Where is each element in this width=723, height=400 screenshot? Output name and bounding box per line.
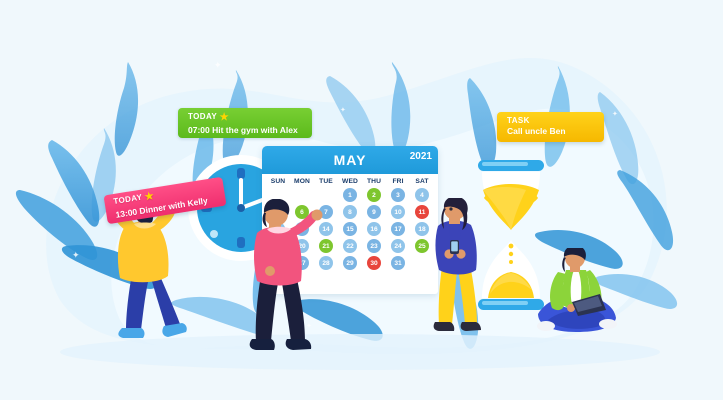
person-woman-blue-top (424, 198, 496, 340)
calendar-cell[interactable]: 16 (362, 221, 386, 237)
calendar-cell[interactable]: 31 (386, 255, 410, 271)
calendar-day-30[interactable]: 30 (367, 256, 381, 270)
calendar-day-9[interactable]: 9 (367, 205, 381, 219)
calendar-cell[interactable]: 17 (386, 221, 410, 237)
sparkle-icon: ✦ (340, 106, 346, 114)
calendar-cell[interactable]: 22 (338, 238, 362, 254)
person-man-green-jacket (528, 248, 628, 342)
calendar-cell[interactable]: 10 (386, 204, 410, 220)
calendar-weekday-thu: THU (362, 178, 386, 185)
calendar-day-17[interactable]: 17 (391, 222, 405, 236)
sparkle-icon: ✦ (214, 60, 222, 71)
calendar-weekday-wed: WED (338, 178, 362, 185)
label-green-line1: TODAY ★ (188, 113, 312, 124)
calendar-cell[interactable]: 1 (338, 187, 362, 203)
calendar-day-15[interactable]: 15 (343, 222, 357, 236)
calendar-day-16[interactable]: 16 (367, 222, 381, 236)
label-yellow-line2: Call uncle Ben (507, 127, 604, 136)
sparkle-icon: ✦ (72, 250, 80, 261)
star-icon: ★ (220, 112, 229, 123)
calendar-weekday-fri: FRI (386, 178, 410, 185)
calendar-cell[interactable]: 2 (362, 187, 386, 203)
calendar-year-label: 2021 (410, 151, 432, 162)
calendar-weekday-tue: TUE (314, 178, 338, 185)
calendar-day-2[interactable]: 2 (367, 188, 381, 202)
calendar-cell[interactable]: 9 (362, 204, 386, 220)
calendar-cell[interactable]: 24 (386, 238, 410, 254)
person-man-pink-sweater (243, 199, 333, 359)
calendar-day-3[interactable]: 3 (391, 188, 405, 202)
calendar-weekday-row: SUNMONTUEWEDTHUFRISAT (262, 174, 438, 186)
label-green-line2: 07:00 Hit the gym with Alex (188, 126, 312, 135)
label-task-uncle-ben[interactable]: TASK Call uncle Ben (497, 112, 604, 142)
label-yellow-line1: TASK (507, 117, 604, 125)
calendar-header: MAY 2021 (262, 146, 438, 174)
calendar-weekday-sun: SUN (266, 178, 290, 185)
calendar-day-22[interactable]: 22 (343, 239, 357, 253)
calendar-day-31[interactable]: 31 (391, 256, 405, 270)
calendar-day-24[interactable]: 24 (391, 239, 405, 253)
calendar-cell[interactable]: 30 (362, 255, 386, 271)
calendar-cell[interactable]: 29 (338, 255, 362, 271)
calendar-day-10[interactable]: 10 (391, 205, 405, 219)
illustration-canvas: ✦ ✦ ✦ ✦ ✦ ✦ ✦ MAY 2021 SUNMONTUEWEDTHUFR… (0, 0, 723, 400)
calendar-cell[interactable]: 23 (362, 238, 386, 254)
calendar-day-29[interactable]: 29 (343, 256, 357, 270)
calendar-day-23[interactable]: 23 (367, 239, 381, 253)
star-icon: ★ (144, 191, 155, 203)
calendar-weekday-mon: MON (290, 178, 314, 185)
calendar-weekday-sat: SAT (410, 178, 434, 185)
calendar-cell[interactable]: 8 (338, 204, 362, 220)
calendar-day-8[interactable]: 8 (343, 205, 357, 219)
sparkle-icon: ✦ (612, 110, 618, 118)
calendar-cell[interactable]: 15 (338, 221, 362, 237)
calendar-cell[interactable]: 3 (386, 187, 410, 203)
label-today-gym[interactable]: TODAY ★ 07:00 Hit the gym with Alex (178, 108, 312, 138)
calendar-day-1[interactable]: 1 (343, 188, 357, 202)
